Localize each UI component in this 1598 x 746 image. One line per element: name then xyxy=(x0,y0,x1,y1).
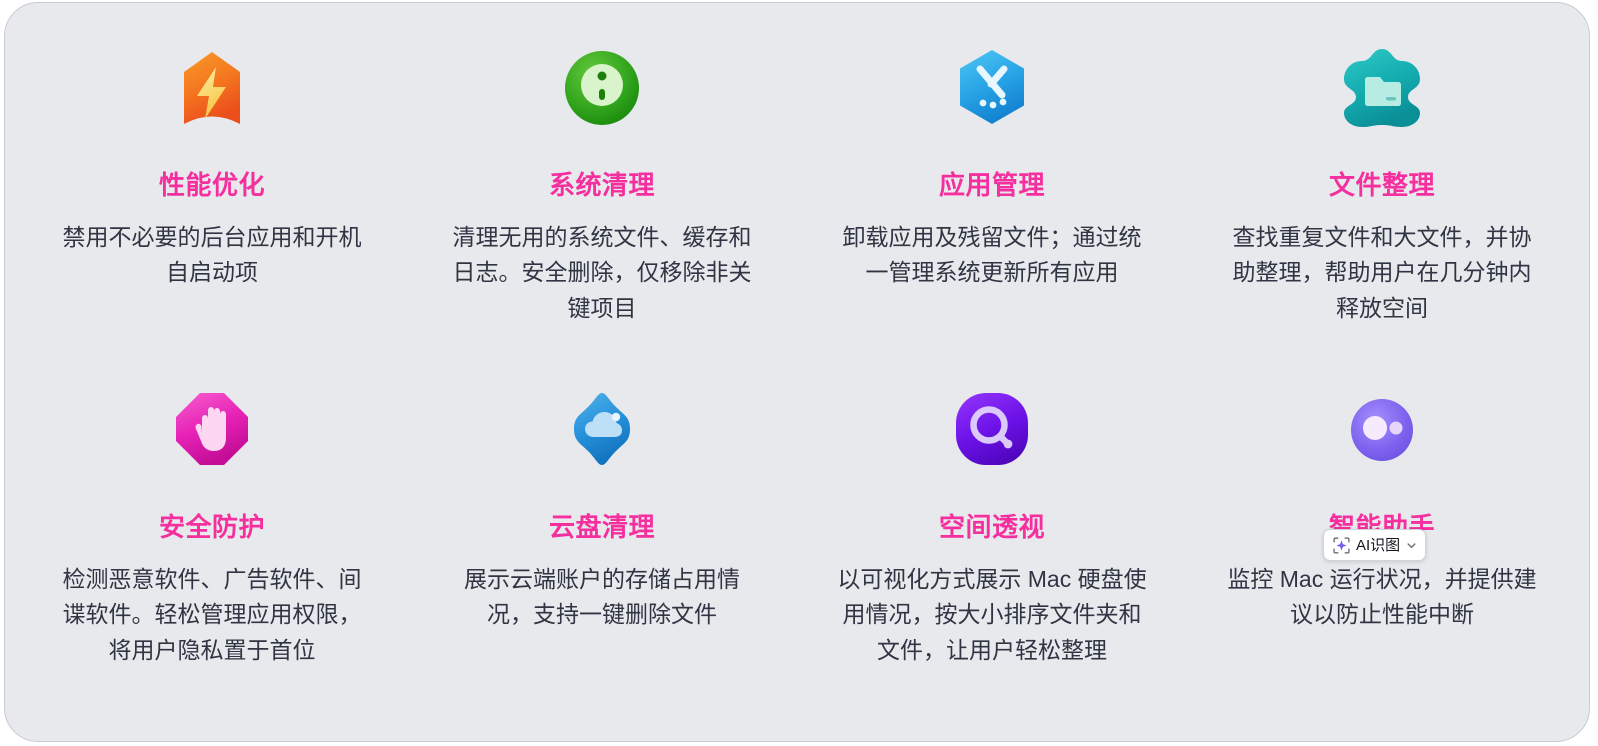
feature-card-title: 性能优化 xyxy=(159,171,265,200)
feature-card-space-lens[interactable]: 空间透视 以可视化方式展示 Mac 硬盘使用情况，按大小排序文件夹和文件，让用户… xyxy=(797,369,1187,741)
feature-card-title: 安全防护 xyxy=(159,513,265,542)
chevron-down-icon[interactable] xyxy=(1405,539,1418,552)
ai-recognize-label: AI识图 xyxy=(1356,538,1400,553)
feature-grid-panel: 性能优化 禁用不必要的后台应用和开机自启动项 xyxy=(4,2,1590,742)
feature-card-description: 卸载应用及残留文件；通过统一管理系统更新所有应用 xyxy=(836,220,1148,291)
feature-card-title: 空间透视 xyxy=(939,513,1045,542)
feature-card-system-cleanup[interactable]: 系统清理 清理无用的系统文件、缓存和日志。安全删除，仅移除非关键项目 xyxy=(407,17,797,369)
smart-assistant-orb-icon xyxy=(1334,381,1430,477)
feature-card-title: 文件整理 xyxy=(1329,171,1435,200)
feature-card-description: 禁用不必要的后台应用和开机自启动项 xyxy=(62,220,362,291)
feature-card-description: 检测恶意软件、广告软件、间谍软件。轻松管理应用权限，将用户隐私置于首位 xyxy=(59,562,365,669)
security-stop-hand-icon xyxy=(164,381,260,477)
ai-scan-sparkle-icon xyxy=(1332,536,1351,555)
feature-card-title: 应用管理 xyxy=(939,171,1045,200)
file-organizer-folder-icon xyxy=(1334,39,1430,135)
feature-card-app-manager[interactable]: 应用管理 卸载应用及残留文件；通过统一管理系统更新所有应用 xyxy=(797,17,1187,369)
feature-card-cloud-cleanup[interactable]: 云盘清理 展示云端账户的存储占用情况，支持一键删除文件 xyxy=(407,369,797,741)
space-lens-magnifier-icon xyxy=(944,381,1040,477)
performance-bolt-shield-icon xyxy=(164,39,260,135)
ai-recognize-button[interactable]: AI识图 xyxy=(1323,529,1426,561)
feature-card-description: 清理无用的系统文件、缓存和日志。安全删除，仅移除非关键项目 xyxy=(449,220,755,327)
feature-card-description: 查找重复文件和大文件，并协助整理，帮助用户在几分钟内释放空间 xyxy=(1226,220,1538,327)
feature-card-description: 监控 Mac 运行状况，并提供建议以防止性能中断 xyxy=(1222,562,1542,633)
cloud-cleanup-icon xyxy=(554,381,650,477)
feature-grid: 性能优化 禁用不必要的后台应用和开机自启动项 xyxy=(5,3,1589,741)
system-cleanup-circle-icon xyxy=(554,39,650,135)
feature-card-title: 云盘清理 xyxy=(549,513,655,542)
app-manager-hexagon-icon xyxy=(944,39,1040,135)
feature-card-performance[interactable]: 性能优化 禁用不必要的后台应用和开机自启动项 xyxy=(17,17,407,369)
feature-card-security[interactable]: 安全防护 检测恶意软件、广告软件、间谍软件。轻松管理应用权限，将用户隐私置于首位 xyxy=(17,369,407,741)
feature-card-description: 展示云端账户的存储占用情况，支持一键删除文件 xyxy=(442,562,762,633)
feature-card-file-organizer[interactable]: 文件整理 查找重复文件和大文件，并协助整理，帮助用户在几分钟内释放空间 xyxy=(1187,17,1577,369)
feature-card-title: 系统清理 xyxy=(549,171,655,200)
feature-card-description: 以可视化方式展示 Mac 硬盘使用情况，按大小排序文件夹和文件，让用户轻松整理 xyxy=(833,562,1151,669)
